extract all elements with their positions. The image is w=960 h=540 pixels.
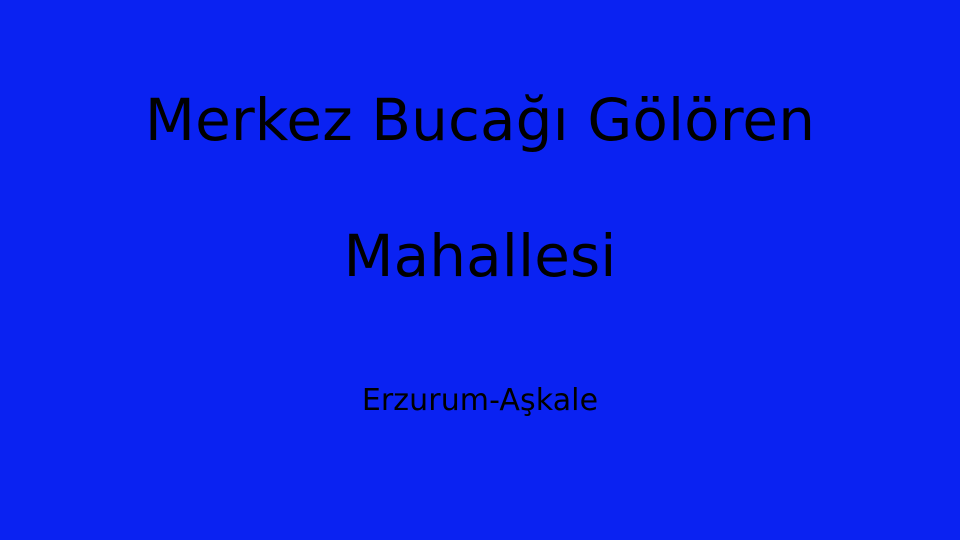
slide-title-line-2: Mahallesi	[40, 222, 920, 290]
slide-subtitle-line-1: Erzurum-Aşkale	[40, 383, 920, 419]
title-blank-line	[40, 154, 920, 222]
slide-title-line-1: Merkez Bucağı Gölören	[40, 86, 920, 154]
title-slide: Merkez Bucağı Gölören Mahallesi Erzurum-…	[0, 0, 960, 540]
slide-title: Merkez Bucağı Gölören Mahallesi	[0, 86, 960, 291]
slide-subtitle: Erzurum-Aşkale	[0, 383, 960, 419]
